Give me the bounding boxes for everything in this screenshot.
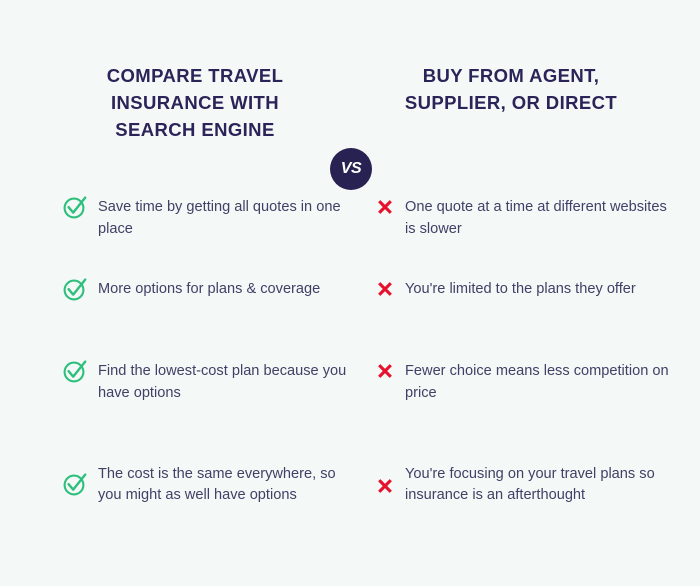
list-item: You're focusing on your travel plans so … bbox=[376, 442, 676, 528]
list-item-label: Fewer choice means less competition on p… bbox=[405, 360, 676, 404]
list-item: More options for plans & coverage bbox=[62, 278, 362, 360]
comparison-infographic: COMPARE TRAVEL INSURANCE WITH SEARCH ENG… bbox=[0, 0, 700, 586]
cross-icon bbox=[376, 476, 405, 495]
check-circle-icon bbox=[62, 278, 98, 302]
list-item: You're limited to the plans they offer bbox=[376, 278, 676, 360]
list-item: The cost is the same everywhere, so you … bbox=[62, 442, 362, 528]
list-item: Save time by getting all quotes in one p… bbox=[62, 196, 362, 278]
right-column-heading: BUY FROM AGENT, SUPPLIER, OR DIRECT bbox=[380, 62, 642, 116]
list-item-label: The cost is the same everywhere, so you … bbox=[98, 464, 362, 507]
cross-icon bbox=[376, 360, 405, 380]
cross-icon bbox=[376, 278, 405, 298]
list-item: One quote at a time at different website… bbox=[376, 196, 676, 278]
list-item-label: You're limited to the plans they offer bbox=[405, 278, 676, 301]
list-item-label: You're focusing on your travel plans so … bbox=[405, 464, 676, 507]
cross-icon bbox=[376, 196, 405, 216]
check-circle-icon bbox=[62, 360, 98, 384]
list-item-label: Save time by getting all quotes in one p… bbox=[98, 196, 362, 240]
check-circle-icon bbox=[62, 196, 98, 220]
vs-badge: VS bbox=[330, 148, 372, 190]
infographic-header: COMPARE TRAVEL INSURANCE WITH SEARCH ENG… bbox=[0, 62, 700, 158]
list-item: Find the lowest-cost plan because you ha… bbox=[62, 360, 362, 442]
right-column: One quote at a time at different website… bbox=[376, 196, 676, 528]
check-circle-icon bbox=[62, 474, 98, 497]
left-column-heading: COMPARE TRAVEL INSURANCE WITH SEARCH ENG… bbox=[68, 62, 322, 143]
list-item: Fewer choice means less competition on p… bbox=[376, 360, 676, 442]
list-item-label: One quote at a time at different website… bbox=[405, 196, 676, 240]
left-column: Save time by getting all quotes in one p… bbox=[62, 196, 362, 528]
list-item-label: Find the lowest-cost plan because you ha… bbox=[98, 360, 362, 404]
vs-badge-label: VS bbox=[341, 160, 362, 178]
list-item-label: More options for plans & coverage bbox=[98, 278, 362, 301]
